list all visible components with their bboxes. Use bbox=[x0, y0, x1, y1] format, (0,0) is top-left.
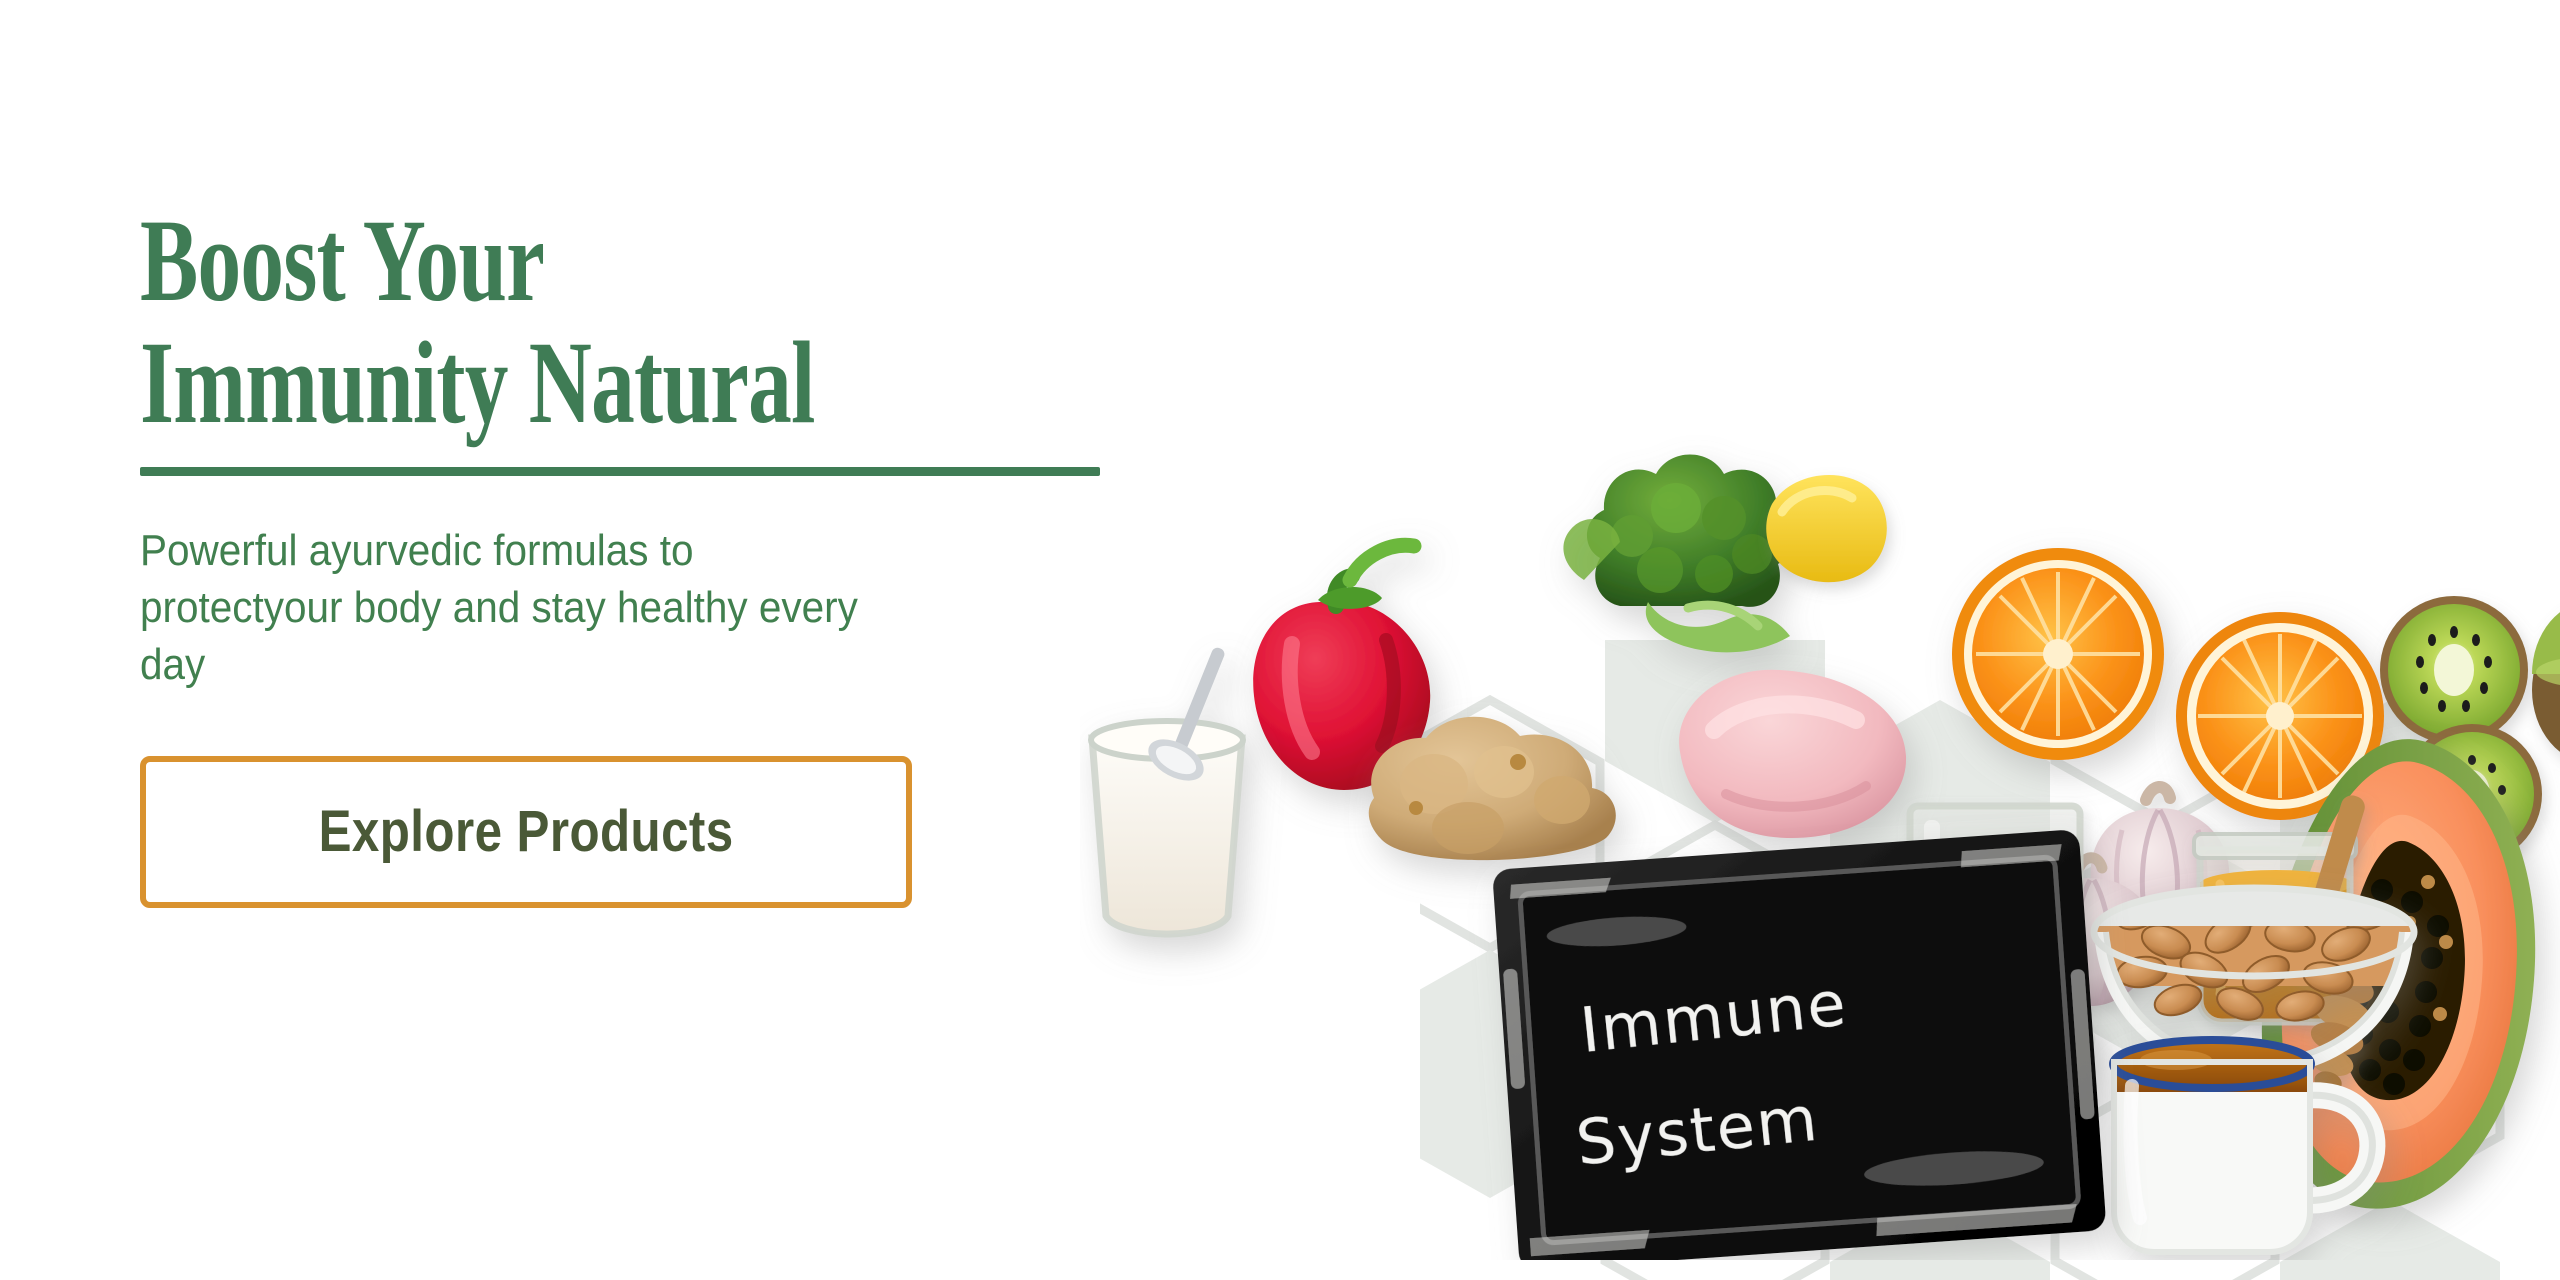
immunity-hero-banner: Boost Your Immunity Natural Powerful ayu… bbox=[0, 0, 2560, 1280]
orange-half-left-icon bbox=[1952, 548, 2164, 760]
chalkboard-icon: Immune System bbox=[1492, 829, 2107, 1260]
page-title: Boost Your Immunity Natural bbox=[140, 200, 880, 443]
hero-subtitle: Powerful ayurvedic formulas to protectyo… bbox=[140, 522, 894, 694]
hero-text-column: Boost Your Immunity Natural Powerful ayu… bbox=[140, 200, 1140, 908]
lemon-icon bbox=[1766, 475, 1887, 582]
heading-underline bbox=[140, 467, 1100, 476]
headline-line-1: Boost Your bbox=[140, 200, 880, 322]
explore-products-label: Explore Products bbox=[318, 798, 733, 865]
broccoli-icon bbox=[1563, 455, 1793, 653]
chicken-breast-icon bbox=[1679, 670, 1906, 838]
explore-products-button[interactable]: Explore Products bbox=[140, 756, 912, 908]
immunity-foods-image: Immune System bbox=[1080, 430, 2560, 1260]
headline-line-2: Immunity Natural bbox=[140, 322, 880, 444]
